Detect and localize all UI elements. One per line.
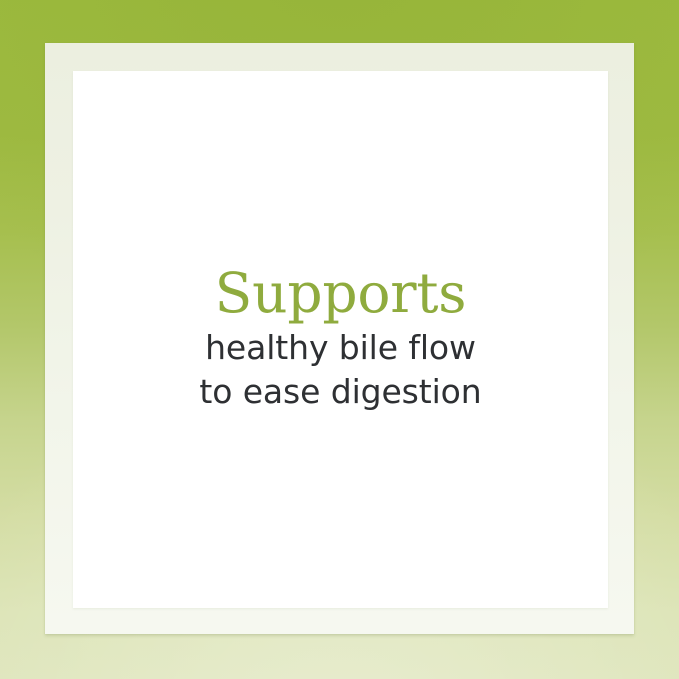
- subline-1: healthy bile flow: [205, 327, 476, 369]
- headline-supports: Supports: [215, 266, 467, 321]
- subline-2: to ease digestion: [199, 371, 481, 413]
- white-inner-panel: Supports healthy bile flow to ease diges…: [73, 71, 608, 608]
- message-block: Supports healthy bile flow to ease diges…: [73, 71, 608, 608]
- marketing-graphic-canvas: Supports healthy bile flow to ease diges…: [0, 0, 679, 679]
- cream-matte-border: Supports healthy bile flow to ease diges…: [45, 43, 634, 634]
